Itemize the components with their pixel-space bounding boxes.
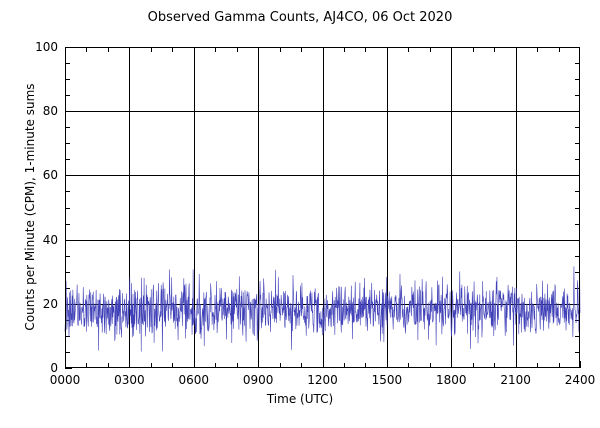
y-tick-label: 80 <box>5 104 58 118</box>
plot-area <box>0 0 600 428</box>
y-tick-label: 60 <box>5 168 58 182</box>
x-tick-label: 0600 <box>178 373 209 387</box>
y-tick-label: 100 <box>5 40 58 54</box>
gamma-cpm-trace <box>65 266 580 351</box>
x-tick-label: 1800 <box>436 373 467 387</box>
x-tick-label: 0000 <box>50 373 81 387</box>
x-tick-label: 0900 <box>243 373 274 387</box>
data-trace-group <box>65 266 580 351</box>
x-tick-label: 1500 <box>372 373 403 387</box>
y-tick-label: 20 <box>5 297 58 311</box>
y-tick-label: 40 <box>5 233 58 247</box>
gamma-counts-figure: Observed Gamma Counts, AJ4CO, 06 Oct 202… <box>0 0 600 428</box>
x-tick-label: 1200 <box>307 373 338 387</box>
x-tick-label: 2400 <box>565 373 596 387</box>
x-tick-label: 0300 <box>114 373 145 387</box>
x-tick-label: 2100 <box>500 373 531 387</box>
